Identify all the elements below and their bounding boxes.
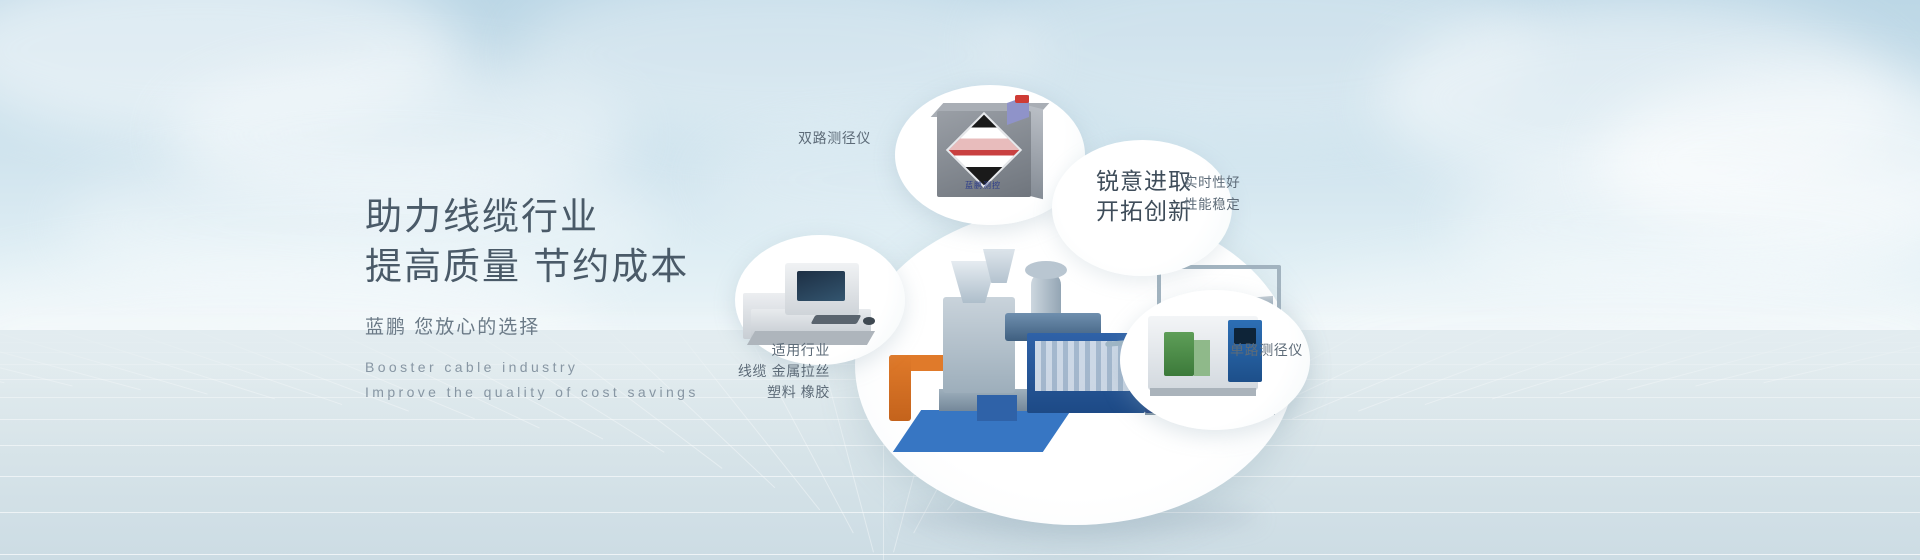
hero-banner: 助力线缆行业 提高质量 节约成本 蓝鹏 您放心的选择 Booster cable… [0, 0, 1920, 560]
label-dual-gauge: 双路测径仪 [798, 128, 871, 149]
product-composition: 蓝鹏测控 锐意进取 开拓创新 双路测径 [700, 0, 1920, 560]
label-industries: 适用行业 线缆 金属拉丝 塑料 橡胶 [720, 340, 830, 403]
label-industry-line-2: 塑料 橡胶 [720, 382, 830, 403]
label-feature-2: 性能稳定 [1184, 194, 1240, 216]
label-industry-title: 适用行业 [720, 340, 830, 361]
label-single-gauge: 单路测径仪 [1230, 340, 1303, 361]
device-logo-text: 蓝鹏测控 [951, 181, 1015, 191]
label-features: 实时性好 性能稳定 [1184, 172, 1240, 216]
label-industry-line-1: 线缆 金属拉丝 [720, 361, 830, 382]
label-feature-1: 实时性好 [1184, 172, 1240, 194]
